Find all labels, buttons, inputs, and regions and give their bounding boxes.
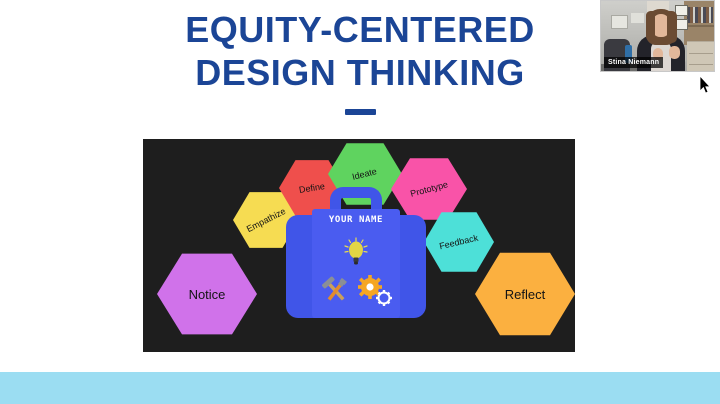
participant-name-badge: Stina Niemann [604, 57, 663, 68]
tools-icon [320, 276, 352, 306]
lightbulb-icon [343, 237, 369, 267]
hexagon-feedback: Feedback [424, 211, 494, 273]
video-background-cabinet [687, 41, 715, 72]
hexagon-notice: Notice [157, 252, 257, 336]
hexagon-reflect-label: Reflect [505, 288, 545, 301]
hexagon-ideate-label: Ideate [352, 167, 378, 182]
title-divider-rule [345, 109, 376, 115]
video-background-books [687, 7, 713, 23]
briefcase-front-panel: YOUR NAME [312, 209, 400, 318]
mouse-pointer-icon [699, 76, 711, 94]
briefcase-name-label: YOUR NAME [312, 215, 400, 225]
hexagon-notice-label: Notice [189, 288, 226, 301]
briefcase-illustration: YOUR NAME [286, 187, 426, 327]
participant-hand-right [669, 46, 680, 59]
video-background-poster-2 [631, 13, 644, 23]
presentation-slide: EQUITY-CENTERED DESIGN THINKING Notice E… [0, 0, 720, 404]
participant-hair-right [667, 11, 677, 43]
bottom-accent-band [0, 372, 720, 404]
participant-video-tile[interactable]: Stina Niemann [600, 0, 715, 72]
participant-hair-left [646, 11, 655, 41]
video-background-shelf-divider [684, 25, 715, 27]
design-thinking-graphic: Notice Empathize Define Ideate Prototype… [143, 139, 575, 352]
video-background-cabinet-line-2 [689, 64, 713, 65]
hexagon-reflect: Reflect [475, 251, 575, 337]
gears-icon [356, 275, 394, 307]
hexagon-empathize-label: Empathize [245, 206, 287, 233]
hexagon-feedback-label: Feedback [439, 233, 480, 251]
video-background-cabinet-line-1 [689, 53, 713, 54]
video-background-poster-1 [611, 15, 628, 29]
